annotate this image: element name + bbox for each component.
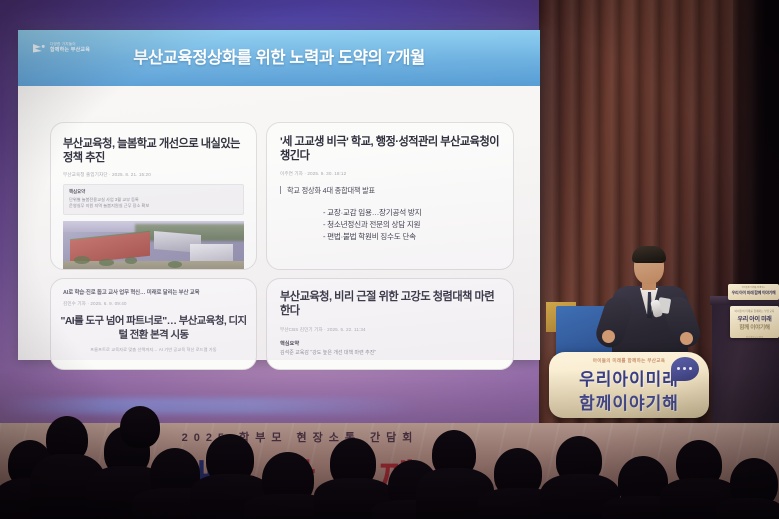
summary-label: 핵심요약	[69, 189, 238, 195]
subhead-bar-icon	[280, 186, 281, 194]
speaker-glasses-icon	[635, 260, 663, 268]
card-headline: "AI를 도구 넘어 파트너로"… 부산교육청, 디지털 전환 본격 시동	[57, 315, 250, 342]
card-kicker: AI로 학습·진로 돕고 교사 업무 혁신… 미래로 달리는 부산 교육	[63, 289, 244, 297]
slide-body: 부산교육청, 늘봄학교 개선으로 내실있는 정책 추진 부산교육청 출입기자단 …	[18, 86, 540, 360]
card-byline: 부산교육청 출입기자단 · 2025. 8. 21. 15:20	[63, 172, 244, 179]
news-card-normalization: '세 고교생 비극' 학교, 행정·성적관리 부산교육청이 챙긴다 이주연 기자…	[266, 122, 514, 270]
slide-header: 다양한 가치들이 함께하는 부산교육 부산교육정상화를 위한 노력과 도약의 7…	[18, 30, 540, 86]
sign-line-1: 우리 아이 미래	[730, 314, 779, 323]
bullet-item: - 청소년정신과 전문의 상담 지원	[323, 219, 500, 231]
card-summary: 핵심요약 김석준 교육감 "강도 높은 개선 대책 마련 추진"	[280, 340, 500, 356]
card-caption: 프롬프트로 교육자료 맞춤 선택까지… AI 기반 공교육 혁신 로드맵 가동	[63, 347, 244, 353]
stage-standee: 아이들의 미래를 함께하는 부산교육 우리아이미래 함께이야기해	[549, 352, 709, 418]
speaker-right-hand	[680, 332, 693, 345]
speech-bubble-icon	[671, 357, 699, 381]
sign-logo: 부산광역시교육청	[730, 335, 779, 338]
podium-sign-main: 아이들의 미래를 함께하는 부산교육 우리 아이 미래 함께 이야기해 부산광역…	[730, 306, 779, 338]
card-headline: 부산교육청, 비리 근절 위한 고강도 청렴대책 마련한다	[280, 290, 500, 319]
bullet-item: - 교장·교감 임용…장기공석 방지	[323, 207, 500, 219]
banner-title: 2025 학부모 현장소통 간담회	[0, 429, 600, 445]
card-bullet-list: - 교장·교감 임용…장기공석 방지 - 청소년정신과 전문의 상담 지원 - …	[283, 207, 500, 244]
card-photo-school	[63, 221, 244, 270]
card-byline: 부산CBS 김민기 기자 · 2025. 5. 22. 11:34	[280, 327, 500, 334]
podium-sign-top: 아이들의 미래를 함께하는 우리 아이 미래 함께 이야기해	[728, 284, 779, 300]
news-card-nulbom: 부산교육청, 늘봄학교 개선으로 내실있는 정책 추진 부산교육청 출입기자단 …	[50, 122, 257, 270]
news-card-integrity: 부산교육청, 비리 근절 위한 고강도 청렴대책 마련한다 부산CBS 김민기 …	[266, 278, 514, 370]
summary-line-2: 운영실무 지원 지역 늘봄지원실 근무 장소 확보	[69, 203, 238, 210]
card-byline: 이주연 기자 · 2025. 9. 30. 18:12	[280, 171, 500, 178]
card-summary-box: 핵심요약 단위별 늘봄전용교실 사업 3월 교부 등록 운영실무 지원 지역 늘…	[63, 184, 244, 215]
sign-sub: 아이들의 미래를 함께하는 부산교육	[730, 309, 779, 313]
speaker-left-hand	[602, 330, 615, 343]
sign-main: 우리 아이 미래 함께 이야기해	[728, 290, 779, 296]
slide-title: 부산교육정상화를 위한 노력과 도약의 7개월	[18, 44, 540, 68]
card-headline: 부산교육청, 늘봄학교 개선으로 내실있는 정책 추진	[63, 137, 244, 166]
ceiling-light-strip	[0, 398, 420, 414]
projection-screen: 다양한 가치들이 함께하는 부산교육 부산교육정상화를 위한 노력과 도약의 7…	[18, 30, 540, 360]
subhead-text: 학교 정상화 4대 종합대책 발표	[287, 186, 375, 196]
card-headline: '세 고교생 비극' 학교, 행정·성적관리 부산교육청이 챙긴다	[280, 135, 500, 164]
sign-line-2: 함께 이야기해	[730, 323, 779, 331]
bullet-item: - 편법·불법 학원비 징수도 단속	[323, 231, 500, 243]
card-byline: 김민수 기자 · 2025. 6. 9. 09:40	[63, 301, 244, 308]
summary-text: 김석준 교육감 "강도 높은 개선 대책 마련 추진"	[280, 349, 500, 356]
standee-line-2: 함께이야기해	[549, 389, 709, 414]
summary-label: 핵심요약	[280, 340, 500, 347]
auditorium-scene: 다양한 가치들이 함께하는 부산교육 부산교육정상화를 위한 노력과 도약의 7…	[0, 0, 779, 519]
news-card-ai: AI로 학습·진로 돕고 교사 업무 혁신… 미래로 달리는 부산 교육 김민수…	[50, 278, 257, 370]
card-subhead: 학교 정상화 4대 종합대책 발표	[280, 186, 500, 196]
